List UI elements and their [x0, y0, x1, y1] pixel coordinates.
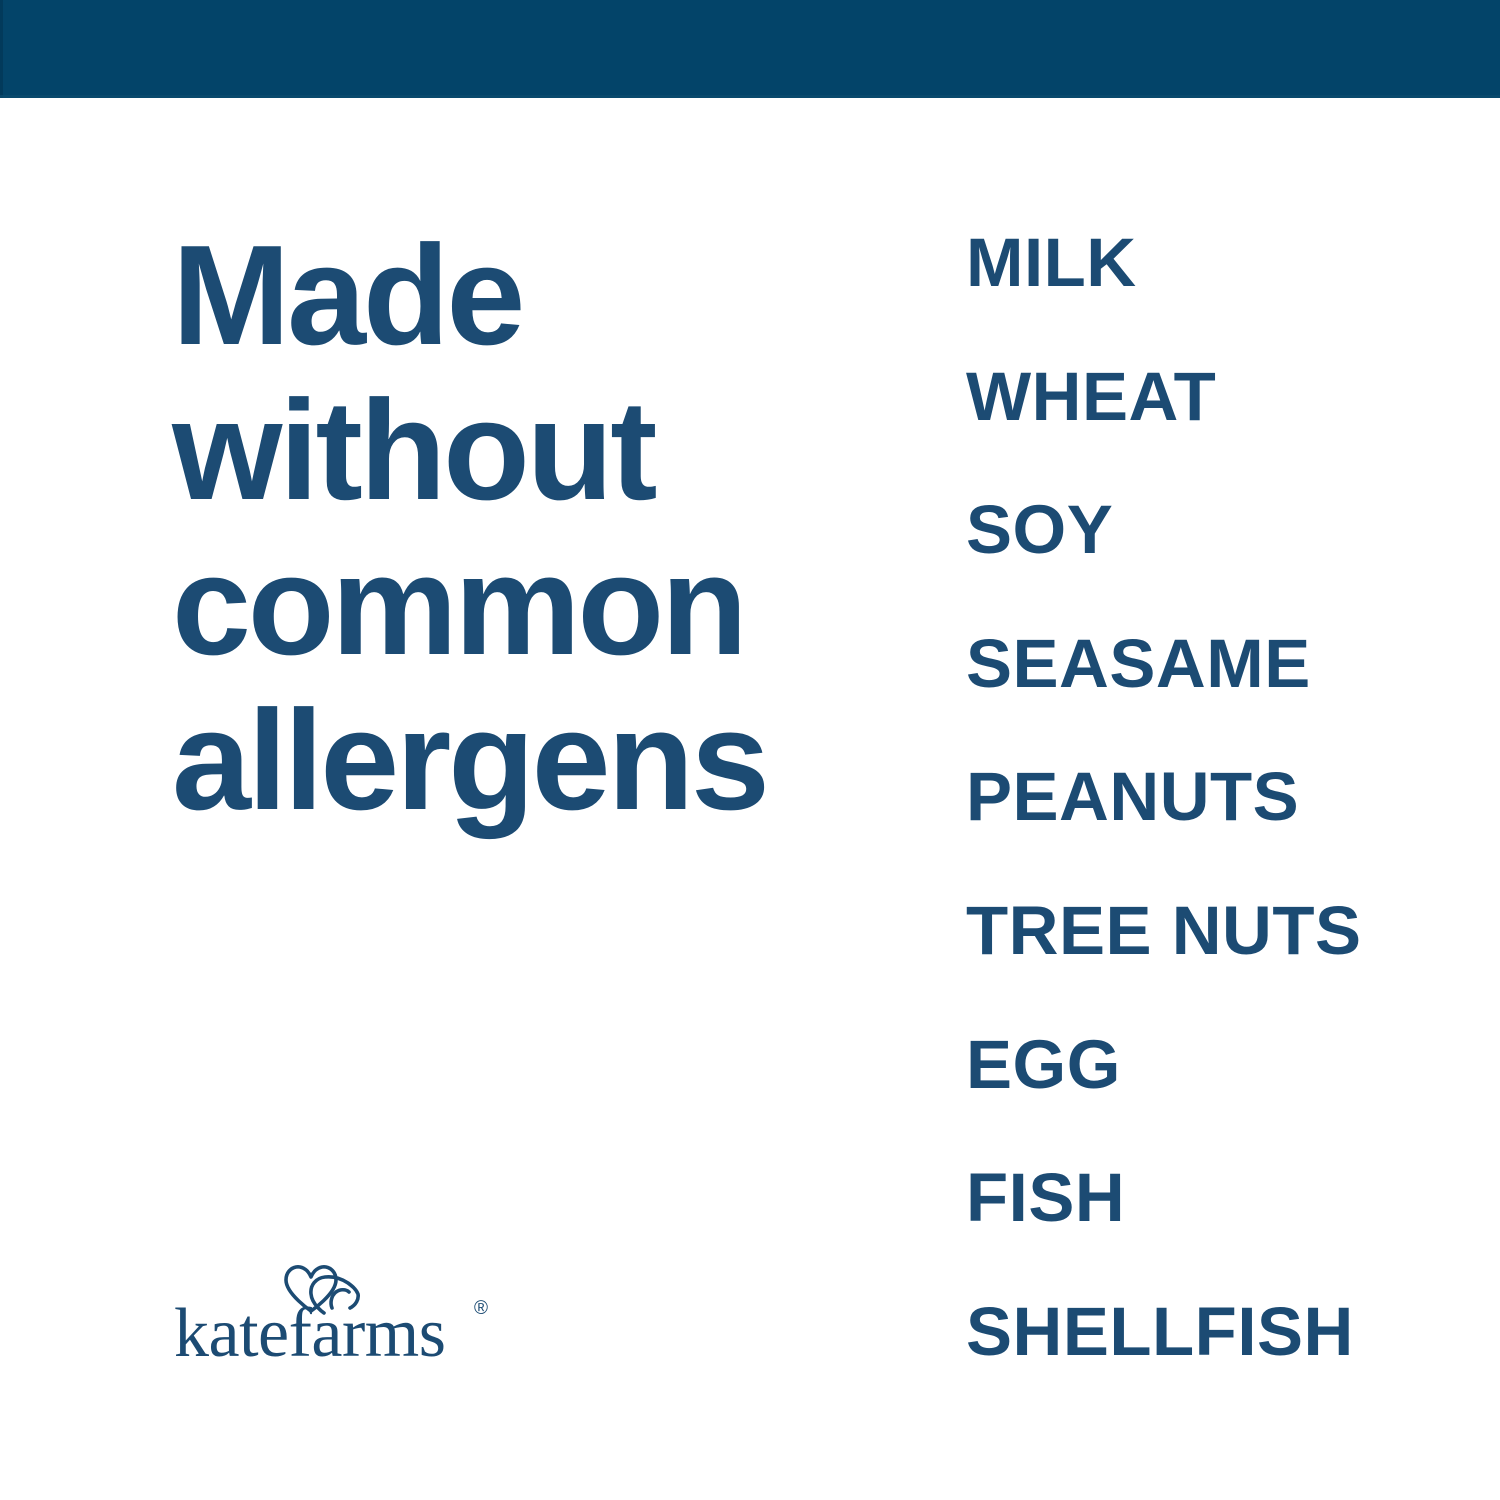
headline-line-4: allergens [172, 683, 832, 838]
list-item: PEANUTS [966, 762, 1446, 896]
list-item: EGG [966, 1030, 1446, 1164]
list-item: MILK [966, 228, 1446, 362]
list-item: SHELLFISH [966, 1297, 1446, 1431]
brand-logo: katefarms ® [174, 1255, 534, 1375]
list-item: TREE NUTS [966, 896, 1446, 1030]
top-navy-band [0, 0, 1500, 98]
headline: Made without common allergens [172, 218, 832, 838]
top-band-bottom-edge [0, 95, 1500, 98]
registered-trademark-icon: ® [474, 1299, 488, 1318]
top-band-left-edge [0, 0, 3, 98]
list-item: SOY [966, 495, 1446, 629]
list-item: SEASAME [966, 629, 1446, 763]
allergen-info-graphic: Made without common allergens katefarms … [0, 0, 1500, 1500]
allergen-list: MILK WHEAT SOY SEASAME PEANUTS TREE NUTS… [966, 228, 1446, 1430]
logo-wordmark: katefarms [174, 1299, 445, 1369]
list-item: FISH [966, 1163, 1446, 1297]
headline-line-1: Made [172, 218, 832, 373]
headline-line-3: common [172, 528, 832, 683]
list-item: WHEAT [966, 362, 1446, 496]
headline-line-2: without [172, 373, 832, 528]
